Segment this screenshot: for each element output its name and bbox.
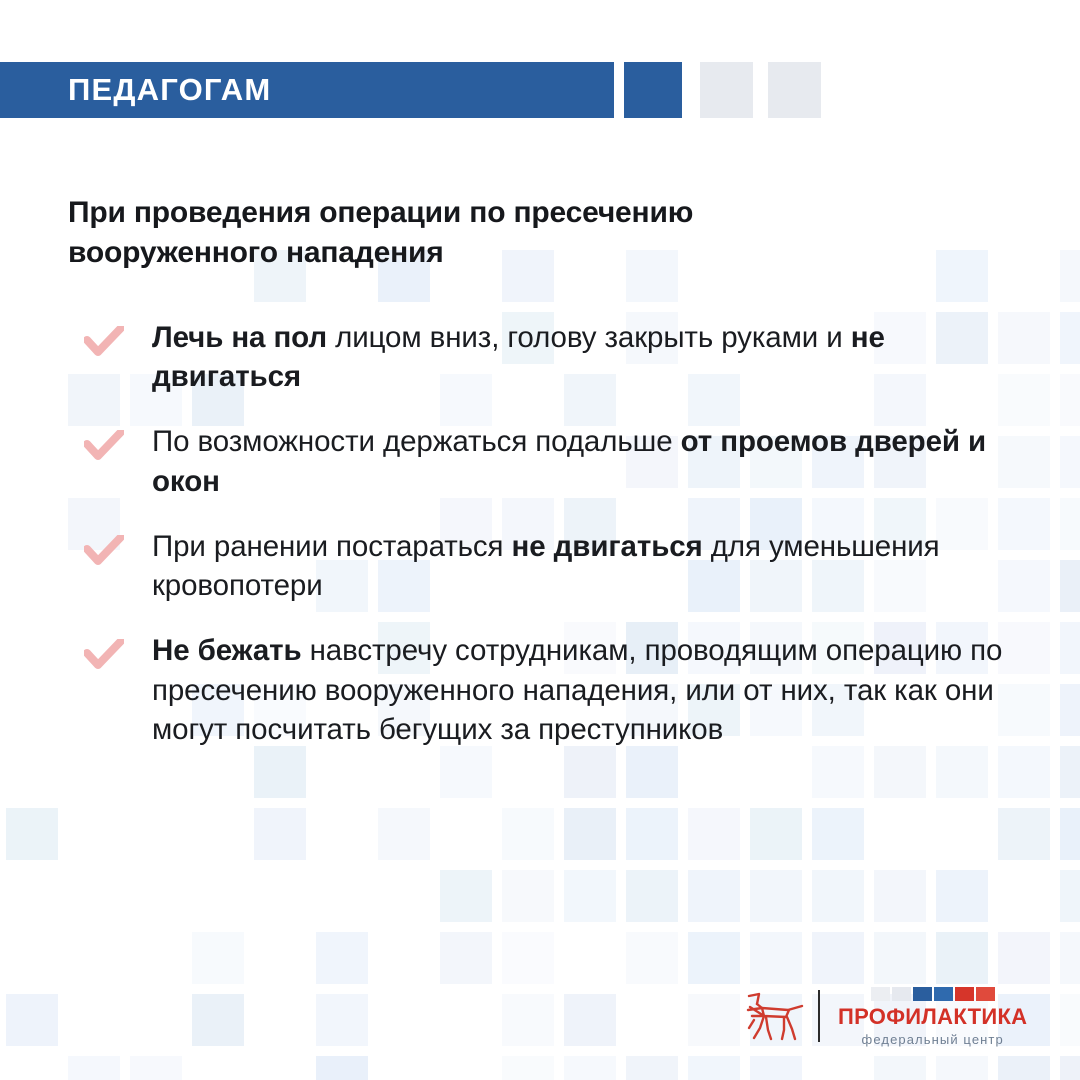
- bullet-item: При ранении постараться не двигаться для…: [68, 527, 1028, 605]
- logo-square-5: [955, 987, 974, 1001]
- bullet-plain: При ранении постараться: [152, 530, 512, 563]
- bullet-emphasis: Лечь на пол: [152, 321, 327, 354]
- header-accent-block-grey-1: [700, 62, 753, 118]
- bullet-emphasis: Не бежать: [152, 634, 302, 667]
- bullet-text: По возможности держаться подальше от про…: [152, 422, 1028, 500]
- content: При проведения операции по пресечению во…: [0, 0, 1080, 1080]
- check-icon: [84, 639, 124, 671]
- logo-square-2: [892, 987, 911, 1001]
- bullet-plain: По возможности держаться подальше: [152, 425, 681, 458]
- check-icon: [84, 430, 124, 462]
- header: ПЕДАГОГАМ: [0, 62, 1080, 118]
- bullet-text: Не бежать навстречу сотрудникам, проводя…: [152, 631, 1028, 749]
- check-icon: [84, 535, 124, 567]
- bullet-item: Лечь на пол лицом вниз, голову закрыть р…: [68, 318, 1028, 396]
- horse-line-art-icon: [740, 986, 812, 1046]
- bullet-plain: лицом вниз, голову закрыть руками и: [327, 321, 851, 354]
- bullet-emphasis: не двигаться: [512, 530, 703, 563]
- bullet-text: Лечь на пол лицом вниз, голову закрыть р…: [152, 318, 1028, 396]
- bullet-item: По возможности держаться подальше от про…: [68, 422, 1028, 500]
- logo-subtitle: федеральный центр: [862, 1033, 1004, 1046]
- header-accent-block-blue: [624, 62, 682, 118]
- header-bar: ПЕДАГОГАМ: [0, 62, 614, 118]
- bullet-item: Не бежать навстречу сотрудникам, проводя…: [68, 631, 1028, 749]
- logo-square-4: [934, 987, 953, 1001]
- bullet-text: При ранении постараться не двигаться для…: [152, 527, 1028, 605]
- bullet-list: Лечь на пол лицом вниз, голову закрыть р…: [68, 318, 1028, 775]
- page-title: ПЕДАГОГАМ: [68, 72, 271, 108]
- intro-heading: При проведения операции по пресечению во…: [68, 193, 868, 272]
- logo: ПРОФИЛАКТИКА федеральный центр: [740, 983, 1030, 1049]
- header-accent-block-grey-2: [768, 62, 821, 118]
- logo-square-3: [913, 987, 932, 1001]
- infographic-page: ПЕДАГОГАМ При проведения операции по пре…: [0, 0, 1080, 1080]
- logo-name: ПРОФИЛАКТИКА: [838, 1006, 1027, 1028]
- logo-square-1: [871, 987, 890, 1001]
- logo-square-strip: [871, 987, 995, 1001]
- logo-divider: [818, 990, 820, 1042]
- logo-square-6: [976, 987, 995, 1001]
- check-icon: [84, 326, 124, 358]
- logo-wordmark: ПРОФИЛАКТИКА федеральный центр: [838, 987, 1027, 1046]
